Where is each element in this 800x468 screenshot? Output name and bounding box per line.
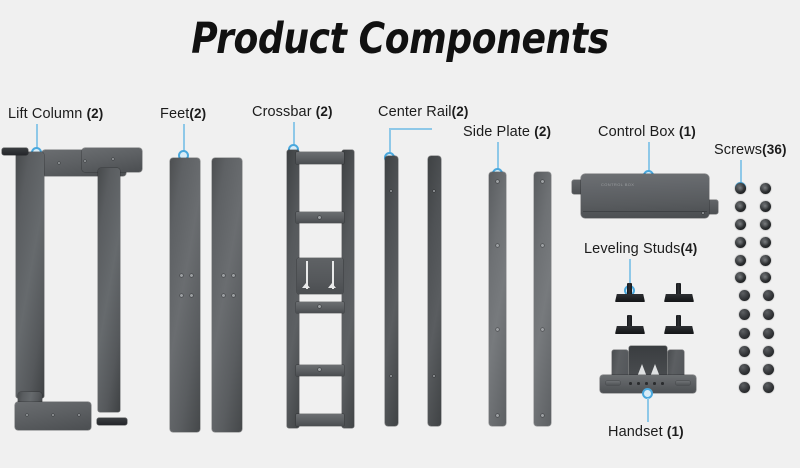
label-handset: Handset (1)	[608, 424, 684, 440]
label-screws-text: Screws	[714, 142, 762, 158]
product-components-diagram: Product Components Lift Column (2) Feet(…	[0, 0, 800, 468]
label-lift-column: Lift Column (2)	[8, 106, 103, 122]
leader-crossbar	[293, 122, 295, 146]
page-title: Product Components	[64, 14, 736, 64]
label-center-rail: Center Rail(2)	[378, 104, 468, 120]
leader-feet	[183, 124, 185, 152]
leader-side-plate	[497, 142, 499, 170]
label-control-box: Control Box (1)	[598, 124, 696, 140]
label-side-plate-text: Side Plate	[463, 124, 530, 140]
label-feet-text: Feet	[160, 106, 189, 122]
label-handset-qty: (1)	[667, 424, 684, 439]
leader-control-box	[648, 142, 650, 172]
label-screws: Screws(36)	[714, 142, 787, 158]
label-crossbar: Crossbar (2)	[252, 104, 333, 120]
label-crossbar-text: Crossbar	[252, 104, 312, 120]
leader-center-rail-h	[389, 128, 432, 130]
label-handset-text: Handset	[608, 424, 663, 440]
label-lift-column-qty: (2)	[87, 106, 104, 121]
label-lift-column-text: Lift Column	[8, 106, 82, 122]
label-leveling-studs-text: Leveling Studs	[584, 241, 681, 257]
label-screws-qty: (36)	[762, 142, 786, 157]
label-crossbar-qty: (2)	[316, 104, 333, 119]
label-feet: Feet(2)	[160, 106, 206, 122]
label-feet-qty: (2)	[189, 106, 206, 121]
leader-center-rail-v	[389, 128, 391, 154]
label-side-plate-qty: (2)	[534, 124, 551, 139]
label-center-rail-text: Center Rail	[378, 104, 452, 120]
leader-handset	[647, 398, 649, 422]
label-leveling-studs-qty: (4)	[681, 241, 698, 256]
label-center-rail-qty: (2)	[452, 104, 469, 119]
label-control-box-text: Control Box	[598, 124, 675, 140]
label-control-box-qty: (1)	[679, 124, 696, 139]
label-side-plate: Side Plate (2)	[463, 124, 551, 140]
label-leveling-studs: Leveling Studs(4)	[584, 241, 697, 257]
control-box-print: CONTROL BOX	[601, 182, 634, 187]
leader-screws	[740, 160, 742, 184]
